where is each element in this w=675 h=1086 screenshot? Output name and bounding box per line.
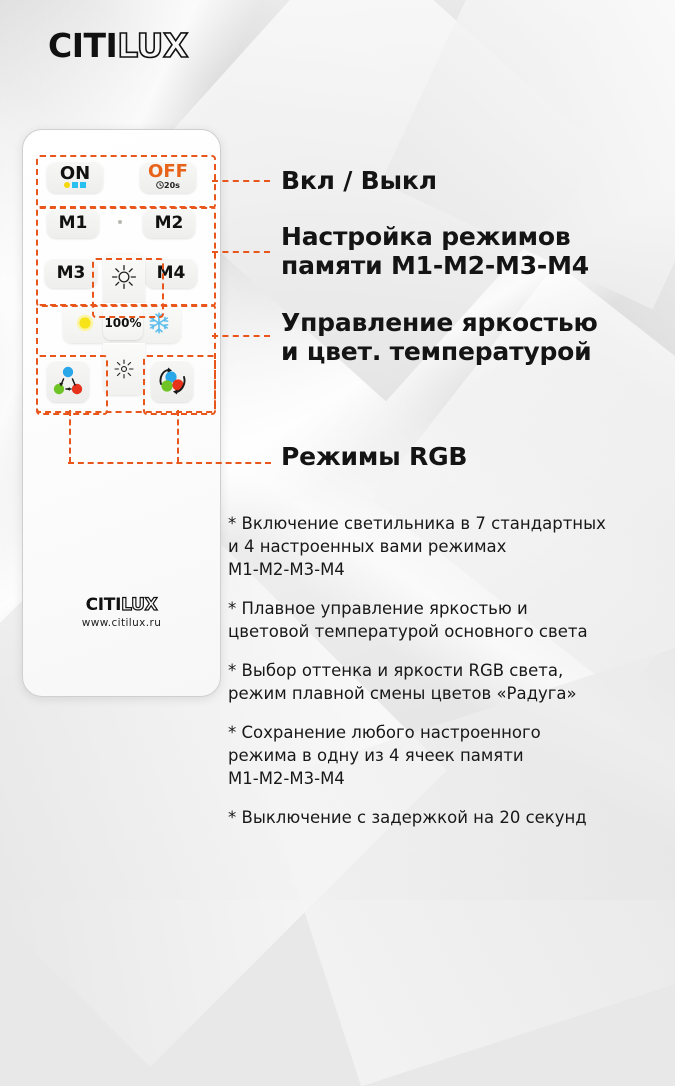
connector-line-memory (212, 251, 270, 253)
brand-logo-lux: LUX (117, 26, 188, 65)
snowflake-icon (147, 311, 171, 335)
led-indicator (118, 220, 122, 224)
rgb-color-select-icon (47, 360, 89, 402)
connector-line-rgb-left (69, 410, 71, 463)
callout-label-rgb: Режимы RGB (281, 442, 467, 471)
remote-footer-logo: CITILUX www.citilux.ru (23, 595, 220, 629)
connector-line-rgb-right (177, 410, 179, 463)
power-off-button[interactable]: OFF 20s (140, 161, 196, 193)
warm-sun-icon (73, 311, 97, 335)
power-off-timer-text: 20s (164, 181, 180, 190)
remote-logo-citi: CITI (86, 595, 122, 615)
connector-line-rgb (68, 462, 271, 464)
rgb-rainbow-cycle-button[interactable] (151, 360, 193, 402)
power-on-button[interactable]: ON (47, 161, 103, 193)
sun-large-icon (111, 264, 137, 290)
warm-dot-icon (64, 182, 70, 188)
callout-label-power: Вкл / Выкл (281, 166, 437, 195)
warm-light-button[interactable] (73, 311, 97, 340)
power-off-timer: 20s (156, 181, 180, 190)
cool-square-icon (72, 182, 78, 188)
remote-logo-lux: LUX (121, 595, 157, 615)
memory-button-m1[interactable]: M1 (47, 208, 99, 238)
brightness-up-button[interactable] (103, 251, 145, 303)
brightness-down-button[interactable] (103, 343, 145, 395)
rgb-rainbow-cycle-icon (151, 360, 193, 402)
sun-small-icon (113, 358, 135, 380)
memory-button-m2[interactable]: M2 (143, 208, 195, 238)
feature-item: * Сохранение любого настроенного режима … (228, 721, 658, 790)
feature-item: * Выключение с задержкой на 20 секунд (228, 806, 658, 829)
brightness-100-button[interactable]: 100% (103, 306, 143, 340)
connector-line-power (212, 180, 270, 182)
power-off-label: OFF (148, 164, 188, 179)
brand-logo: CITILUX (48, 26, 188, 65)
poster-root: CITILUX ON OFF 20s M1 M2 M3 M4 (0, 0, 675, 900)
remote-logo-text: CITILUX (23, 595, 220, 615)
brand-logo-citi: CITI (48, 26, 117, 65)
clock-icon (156, 181, 164, 189)
cool-light-button[interactable] (147, 311, 171, 340)
callout-label-brightness: Управление яркостью и цвет. температурой (281, 308, 598, 366)
feature-list: * Включение светильника в 7 стандартных … (228, 512, 658, 845)
remote-website-url: www.citilux.ru (23, 617, 220, 629)
feature-item: * Плавное управление яркостью и цветовой… (228, 597, 658, 643)
cool-square-icon (80, 182, 86, 188)
rgb-color-select-button[interactable] (47, 360, 89, 402)
power-on-label: ON (60, 166, 90, 181)
feature-item: * Выбор оттенка и яркости RGB света, реж… (228, 659, 658, 705)
power-on-icons (64, 182, 86, 188)
remote-control: ON OFF 20s M1 M2 M3 M4 (22, 129, 221, 697)
connector-line-brightness (212, 335, 270, 337)
callout-label-memory: Настройка режимов памяти M1-M2-M3-M4 (281, 222, 589, 280)
feature-item: * Включение светильника в 7 стандартных … (228, 512, 658, 581)
